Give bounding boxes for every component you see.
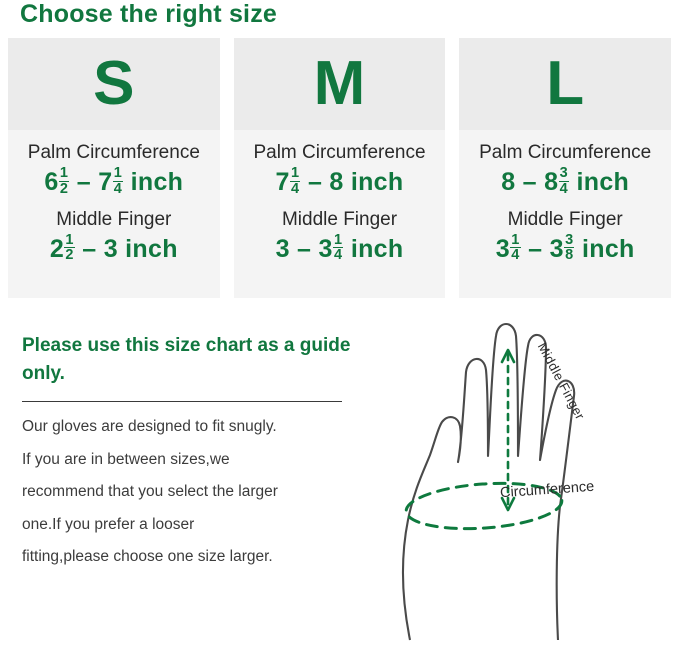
- size-letter-box-s: S: [8, 38, 220, 130]
- size-letter-m: M: [314, 53, 366, 115]
- size-letter-s: S: [93, 53, 134, 115]
- hand-outline-icon: [380, 310, 670, 650]
- size-columns: S Palm Circumference 612 – 714 inch Midd…: [0, 38, 679, 298]
- guide-note-line-4: one.If you prefer a looser: [22, 516, 367, 535]
- size-column-s: S Palm Circumference 612 – 714 inch Midd…: [8, 38, 220, 298]
- guide-note-heading: Please use this size chart as a guide on…: [22, 332, 367, 387]
- size-specs-s: Palm Circumference 612 – 714 inch Middle…: [8, 130, 220, 298]
- middle-finger-value-s: 212 – 3 inch: [14, 233, 214, 264]
- palm-circumference-label-m: Palm Circumference: [240, 142, 440, 164]
- size-letter-l: L: [546, 53, 584, 115]
- size-letter-box-m: M: [234, 38, 446, 130]
- size-specs-l: Palm Circumference 8 – 834 inch Middle F…: [459, 130, 671, 298]
- hand-measurement-diagram: Middle Finger Circumference: [380, 310, 670, 650]
- guide-note: Please use this size chart as a guide on…: [22, 332, 367, 581]
- size-specs-m: Palm Circumference 714 – 8 inch Middle F…: [234, 130, 446, 298]
- middle-finger-label-m: Middle Finger: [240, 209, 440, 231]
- palm-circumference-value-m: 714 – 8 inch: [240, 166, 440, 197]
- middle-finger-value-l: 314 – 338 inch: [465, 233, 665, 264]
- divider: [22, 401, 342, 402]
- guide-note-body: Our gloves are designed to fit snugly. I…: [22, 418, 367, 567]
- palm-circumference-label-l: Palm Circumference: [465, 142, 665, 164]
- middle-finger-label-l: Middle Finger: [465, 209, 665, 231]
- guide-note-line-1: Our gloves are designed to fit snugly.: [22, 418, 367, 437]
- palm-circumference-value-l: 8 – 834 inch: [465, 166, 665, 197]
- guide-note-line-3: recommend that you select the larger: [22, 483, 367, 502]
- middle-finger-value-m: 3 – 314 inch: [240, 233, 440, 264]
- size-chart-page: Choose the right size S Palm Circumferen…: [0, 0, 679, 653]
- palm-circumference-value-s: 612 – 714 inch: [14, 166, 214, 197]
- size-column-m: M Palm Circumference 714 – 8 inch Middle…: [234, 38, 446, 298]
- size-column-l: L Palm Circumference 8 – 834 inch Middle…: [459, 38, 671, 298]
- guide-note-line-2: If you are in between sizes,we: [22, 451, 367, 470]
- guide-note-line-5: fitting,please choose one size larger.: [22, 548, 367, 567]
- middle-finger-label-s: Middle Finger: [14, 209, 214, 231]
- size-letter-box-l: L: [459, 38, 671, 130]
- palm-circumference-label-s: Palm Circumference: [14, 142, 214, 164]
- page-title: Choose the right size: [20, 0, 277, 29]
